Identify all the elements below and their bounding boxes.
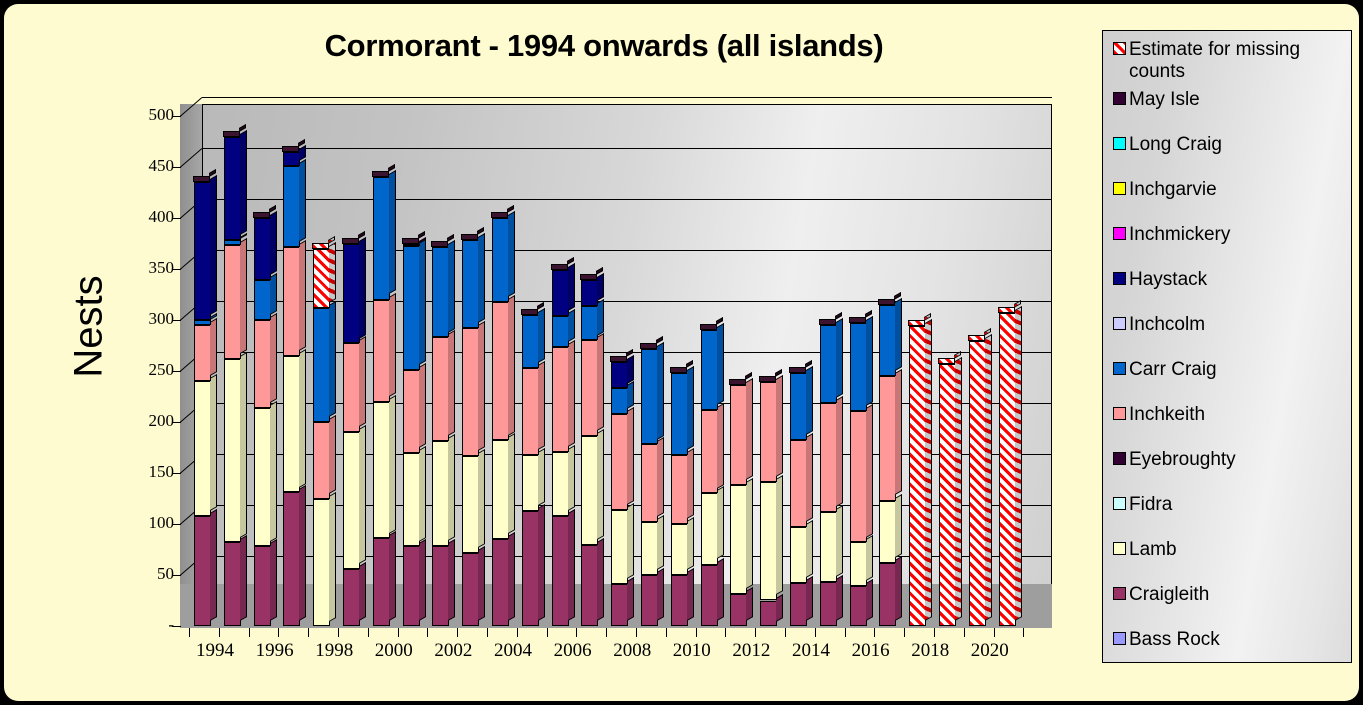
bar-segment-side xyxy=(419,446,426,542)
x-tick-label: 2010 xyxy=(662,640,722,662)
bar-top-face xyxy=(998,307,1015,313)
bar-segment-side xyxy=(687,568,694,621)
x-tick-mark xyxy=(308,628,309,637)
x-tick-mark xyxy=(487,628,488,637)
bar-2014[interactable] xyxy=(790,104,807,628)
bar-segment-carr-craig xyxy=(403,246,420,370)
legend-item-inchgarvie[interactable]: Inchgarvie xyxy=(1113,179,1217,201)
legend-label: Lamb xyxy=(1129,539,1177,561)
legend-item-eyebroughty[interactable]: Eyebroughty xyxy=(1113,449,1236,471)
legend-item-fidra[interactable]: Fidra xyxy=(1113,494,1172,516)
bar-segment-craigleith xyxy=(790,583,807,626)
bar-segment-inchkeith xyxy=(224,245,241,359)
bar-2018[interactable] xyxy=(909,104,926,628)
bar-segment-side xyxy=(329,301,336,417)
bar-segment-estimate-for-missing-counts xyxy=(313,249,330,308)
x-tick-label: 2008 xyxy=(602,640,662,662)
bar-segment-craigleith xyxy=(194,516,211,626)
y-tick-mark xyxy=(172,371,181,372)
bar-2021[interactable] xyxy=(999,104,1016,628)
y-tick-label: 300 xyxy=(114,309,174,329)
legend-item-carr-craig[interactable]: Carr Craig xyxy=(1113,359,1217,381)
bar-segment-inchkeith xyxy=(701,410,718,494)
bar-segment-side xyxy=(240,352,247,538)
y-tick-mark xyxy=(172,422,181,423)
bar-top-face xyxy=(431,241,448,247)
bar-segment-inchkeith xyxy=(552,347,569,452)
x-tick-mark xyxy=(427,628,428,637)
bar-segment-inchkeith xyxy=(492,302,509,441)
legend-item-may-isle[interactable]: May Isle xyxy=(1113,89,1200,111)
legend-item-craigleith[interactable]: Craigleith xyxy=(1113,584,1209,606)
bar-segment-side xyxy=(478,321,485,451)
legend-swatch-icon xyxy=(1113,497,1126,510)
legend-label: Bass Rock xyxy=(1129,629,1220,651)
bar-segment-side xyxy=(359,562,366,621)
bar-segment-side xyxy=(508,532,515,621)
legend-swatch-icon xyxy=(1113,452,1126,465)
bar-2002[interactable] xyxy=(432,104,449,628)
bar-2010[interactable] xyxy=(671,104,688,628)
legend-label: May Isle xyxy=(1129,89,1200,111)
bar-segment-carr-craig xyxy=(790,373,807,440)
bar-segment-inchmickery xyxy=(403,244,420,246)
bar-top-face xyxy=(521,309,538,315)
bar-segment-carr-craig xyxy=(552,316,569,347)
bar-top-face xyxy=(819,319,836,325)
bar-segment-side xyxy=(687,366,694,450)
bar-segment-lamb xyxy=(432,441,449,546)
bar-segment-inchkeith xyxy=(432,337,449,441)
bar-segment-craigleith xyxy=(760,601,777,627)
bar-segment-side xyxy=(389,395,396,534)
bar-segment-carr-craig xyxy=(224,240,241,244)
x-tick-mark xyxy=(1023,628,1024,637)
y-tick-label: 500 xyxy=(114,105,174,125)
bar-segment-side xyxy=(568,509,575,621)
y-tick-mark xyxy=(172,116,181,117)
bar-segment-craigleith xyxy=(820,582,837,626)
bar-segment-side xyxy=(627,407,634,505)
bar-top-face xyxy=(402,238,419,244)
legend-label: Inchgarvie xyxy=(1129,179,1217,201)
bar-top-face xyxy=(342,238,359,244)
bar-2006[interactable] xyxy=(552,104,569,628)
bar-segment-inchkeith xyxy=(760,382,777,482)
bar-segment-side xyxy=(836,396,843,507)
bar-segment-side xyxy=(270,539,277,621)
x-tick-mark xyxy=(725,628,726,637)
x-tick-mark xyxy=(219,628,220,637)
bar-2016[interactable] xyxy=(850,104,867,628)
bar-top-face xyxy=(729,379,746,385)
bar-segment-side xyxy=(359,425,366,564)
bar-2001[interactable] xyxy=(403,104,420,628)
y-tick-mark xyxy=(172,320,181,321)
bar-segment-lamb xyxy=(730,485,747,594)
bar-segment-side xyxy=(568,309,575,342)
bar-segment-side xyxy=(657,515,664,570)
bar-segment-carr-craig xyxy=(701,330,718,410)
bar-segment-side xyxy=(448,539,455,621)
bar-segment-side xyxy=(776,593,783,621)
bar-segment-side xyxy=(657,342,664,440)
bar-1999[interactable] xyxy=(343,104,360,628)
bar-segment-carr-craig xyxy=(254,280,271,320)
bar-2007[interactable] xyxy=(581,104,598,628)
bar-segment-side xyxy=(895,298,902,371)
bar-segment-side xyxy=(508,295,515,436)
y-tick-label: 50 xyxy=(114,564,174,584)
bar-segment-side xyxy=(508,211,515,297)
bar-segment-side xyxy=(925,319,932,621)
bar-segment-side xyxy=(746,478,753,589)
bar-segment-side xyxy=(806,576,813,621)
y-tick-label: - xyxy=(114,615,174,635)
bar-segment-craigleith xyxy=(552,516,569,626)
bar-top-face xyxy=(610,356,627,362)
bar-segment-side xyxy=(299,240,306,351)
bar-segment-lamb xyxy=(850,542,867,586)
bar-segment-carr-craig xyxy=(879,305,896,376)
bar-segment-haystack xyxy=(254,218,271,280)
bar-segment-side xyxy=(866,535,873,581)
bar-segment-side xyxy=(627,503,634,579)
legend-item-inchmickery[interactable]: Inchmickery xyxy=(1113,224,1230,246)
bar-2003[interactable] xyxy=(462,104,479,628)
bar-segment-side xyxy=(895,493,902,557)
x-tick-mark xyxy=(338,628,339,637)
bar-segment-side xyxy=(389,170,396,294)
bar-segment-carr-craig xyxy=(820,325,837,403)
y-tick-mark xyxy=(172,524,181,525)
x-tick-mark xyxy=(994,628,995,637)
bar-segment-side xyxy=(597,333,604,431)
bar-segment-side xyxy=(717,558,724,621)
bar-segment-side xyxy=(538,361,545,450)
x-tick-label: 2020 xyxy=(960,640,1020,662)
bar-segment-craigleith xyxy=(671,575,688,626)
bar-segment-side xyxy=(836,505,843,577)
y-tick-label: 150 xyxy=(114,462,174,482)
x-tick-mark xyxy=(755,628,756,637)
bar-top-face xyxy=(700,324,717,330)
legend-label: Inchcolm xyxy=(1129,314,1205,336)
bar-segment-side xyxy=(478,233,485,323)
bar-2013[interactable] xyxy=(760,104,777,628)
legend-swatch-icon xyxy=(1113,407,1126,420)
bar-segment-side xyxy=(836,575,843,621)
bar-segment-side xyxy=(568,445,575,511)
bar-segment-side xyxy=(568,263,575,311)
bar-top-face xyxy=(491,212,508,218)
bar-segment-lamb xyxy=(641,522,658,575)
bar-segment-side xyxy=(776,375,783,477)
bar-segment-carr-craig xyxy=(462,240,479,328)
y-tick-label: 450 xyxy=(114,156,174,176)
bar-2009[interactable] xyxy=(641,104,658,628)
legend-swatch-icon xyxy=(1113,272,1126,285)
bar-segment-side xyxy=(419,539,426,621)
chart-canvas: Cormorant - 1994 onwards (all islands) N… xyxy=(4,4,1359,701)
bar-1994[interactable] xyxy=(194,104,211,628)
bar-segment-inchkeith xyxy=(730,385,747,485)
bar-segment-craigleith xyxy=(730,594,747,626)
bar-top-face xyxy=(789,367,806,373)
bar-segment-lamb xyxy=(820,512,837,582)
bar-top-face xyxy=(551,264,568,270)
bar-segment-inchkeith xyxy=(850,411,867,543)
legend-swatch-icon xyxy=(1113,542,1126,555)
bar-1997[interactable] xyxy=(283,104,300,628)
bar-2005[interactable] xyxy=(522,104,539,628)
bar-2000[interactable] xyxy=(373,104,390,628)
bar-1996[interactable] xyxy=(254,104,271,628)
bar-2008[interactable] xyxy=(611,104,628,628)
bar-segment-side xyxy=(538,504,545,621)
bar-segment-haystack xyxy=(224,137,241,240)
bar-segment-side xyxy=(776,475,783,595)
bar-top-face xyxy=(223,131,240,137)
bar-segment-lamb xyxy=(879,501,896,563)
bar-segment-side xyxy=(389,531,396,621)
bar-2011[interactable] xyxy=(701,104,718,628)
bar-segment-side xyxy=(538,308,545,363)
bar-segment-inchkeith xyxy=(581,340,598,436)
legend-swatch-icon xyxy=(1113,92,1126,105)
x-tick-mark xyxy=(398,628,399,637)
bar-segment-lamb xyxy=(790,527,807,583)
bar-segment-side xyxy=(597,299,604,336)
bar-top-face xyxy=(461,234,478,240)
bar-segment-carr-craig xyxy=(373,177,390,299)
bar-segment-side xyxy=(985,334,992,621)
legend-swatch-icon xyxy=(1113,362,1126,375)
bar-segment-side xyxy=(597,429,604,540)
x-tick-label: 2006 xyxy=(543,640,603,662)
chart-title: Cormorant - 1994 onwards (all islands) xyxy=(154,28,1054,64)
bar-segment-side xyxy=(299,159,306,242)
x-tick-mark xyxy=(189,628,190,637)
legend-label: Craigleith xyxy=(1129,584,1209,606)
bar-segment-haystack xyxy=(194,182,211,320)
bar-segment-lamb xyxy=(313,499,330,627)
bar-segment-side xyxy=(359,236,366,338)
legend-item-inchcolm[interactable]: Inchcolm xyxy=(1113,314,1205,336)
x-tick-mark xyxy=(934,628,935,637)
bar-2004[interactable] xyxy=(492,104,509,628)
bar-segment-side xyxy=(955,357,962,621)
x-tick-mark xyxy=(368,628,369,637)
bar-segment-craigleith xyxy=(611,584,628,626)
bar-segment-side xyxy=(448,240,455,333)
bar-segment-side xyxy=(270,313,277,403)
bar-segment-inchkeith xyxy=(343,343,360,432)
bar-segment-haystack xyxy=(552,270,569,316)
x-tick-mark xyxy=(606,628,607,637)
gridline xyxy=(202,97,1052,98)
y-tick-mark xyxy=(172,626,181,627)
legend-item-inchkeith[interactable]: Inchkeith xyxy=(1113,404,1205,426)
bar-top-face xyxy=(312,243,329,249)
bar-segment-lamb xyxy=(522,455,539,511)
x-tick-mark xyxy=(517,628,518,637)
bar-segment-inchkeith xyxy=(522,368,539,455)
bar-segment-inchkeith xyxy=(611,414,628,510)
bar-segment-side xyxy=(687,448,694,519)
bar-segment-side xyxy=(419,238,426,364)
bar-segment-side xyxy=(270,401,277,542)
bar-segment-side xyxy=(657,437,664,517)
bar-segment-carr-craig xyxy=(850,323,867,411)
legend-item-estimate-for-missing-counts[interactable]: Estimate for missing counts xyxy=(1113,39,1300,83)
bar-segment-craigleith xyxy=(283,492,300,626)
bar-segment-craigleith xyxy=(254,546,271,626)
bar-top-face xyxy=(580,274,597,280)
bar-segment-craigleith xyxy=(224,542,241,626)
bar-segment-lamb xyxy=(254,408,271,547)
bar-segment-side xyxy=(866,404,873,538)
bar-segment-craigleith xyxy=(701,565,718,626)
x-tick-mark xyxy=(904,628,905,637)
bar-segment-side xyxy=(746,587,753,621)
bar-segment-side xyxy=(806,520,813,578)
bar-segment-craigleith xyxy=(581,545,598,626)
bar-2020[interactable] xyxy=(969,104,986,628)
bar-segment-side xyxy=(717,403,724,489)
bar-segment-carr-craig xyxy=(313,308,330,422)
x-tick-label: 1996 xyxy=(245,640,305,662)
x-tick-mark xyxy=(964,628,965,637)
bar-segment-lamb xyxy=(194,381,211,516)
legend-item-haystack[interactable]: Haystack xyxy=(1113,269,1207,291)
bar-2017[interactable] xyxy=(879,104,896,628)
bar-segment-inchkeith xyxy=(820,403,837,512)
y-tick-mark xyxy=(172,473,181,474)
bar-segment-side xyxy=(866,579,873,621)
legend-item-lamb[interactable]: Lamb xyxy=(1113,539,1177,561)
bar-segment-side xyxy=(270,273,277,315)
bar-segment-lamb xyxy=(403,453,420,547)
bar-segment-side xyxy=(240,535,247,621)
x-tick-mark xyxy=(457,628,458,637)
legend-swatch-icon xyxy=(1113,587,1126,600)
bar-segment-side xyxy=(240,237,247,353)
bar-segment-lamb xyxy=(581,436,598,545)
bar-2015[interactable] xyxy=(820,104,837,628)
bar-segment-side xyxy=(717,486,724,559)
bar-segment-side xyxy=(806,366,813,435)
bar-segment-inchkeith xyxy=(790,440,807,527)
x-tick-mark xyxy=(696,628,697,637)
y-tick-mark xyxy=(172,575,181,576)
bar-top-face xyxy=(670,367,687,373)
x-tick-mark xyxy=(547,628,548,637)
bar-segment-lamb xyxy=(552,452,569,516)
bar-segment-side xyxy=(508,433,515,534)
bar-segment-side xyxy=(895,369,902,495)
legend-item-long-craig[interactable]: Long Craig xyxy=(1113,134,1222,156)
bar-2019[interactable] xyxy=(939,104,956,628)
x-tick-mark xyxy=(874,628,875,637)
bar-segment-side xyxy=(210,175,217,315)
bar-top-face xyxy=(193,176,210,182)
bar-top-face xyxy=(253,212,270,218)
legend-label: Inchmickery xyxy=(1129,224,1230,246)
bar-segment-inchkeith xyxy=(403,370,420,453)
bar-top-face xyxy=(968,335,985,341)
bar-segment-side xyxy=(210,374,217,511)
bar-top-face xyxy=(878,299,895,305)
bar-segment-side xyxy=(657,568,664,621)
bar-1995[interactable] xyxy=(224,104,241,628)
bar-segment-lamb xyxy=(760,482,777,600)
bar-segment-side xyxy=(746,378,753,480)
y-tick-mark xyxy=(172,218,181,219)
x-axis: 1994199619982000200220042006200820102012… xyxy=(180,628,1060,668)
x-tick-mark xyxy=(666,628,667,637)
bar-segment-inchkeith xyxy=(462,328,479,456)
bar-top-face xyxy=(938,358,955,364)
x-tick-label: 2000 xyxy=(364,640,424,662)
bar-segment-side xyxy=(240,130,247,235)
y-tick-label: 400 xyxy=(114,207,174,227)
plot-area xyxy=(180,104,1052,628)
bar-segment-side xyxy=(597,273,604,301)
bar-segment-carr-craig xyxy=(432,247,449,338)
bar-segment-side xyxy=(866,316,873,406)
bar-segment-craigleith xyxy=(462,553,479,626)
bar-top-face xyxy=(759,376,776,382)
legend-label: Estimate for missing counts xyxy=(1129,39,1300,83)
bar-1998[interactable] xyxy=(313,104,330,628)
bar-segment-estimate-for-missing-counts xyxy=(909,326,926,626)
bar-segment-side xyxy=(627,355,634,384)
bar-segment-side xyxy=(448,434,455,541)
bar-segment-carr-craig xyxy=(611,388,628,414)
bar-segment-side xyxy=(627,577,634,621)
bar-segment-side xyxy=(627,381,634,409)
bar-2012[interactable] xyxy=(730,104,747,628)
x-tick-mark xyxy=(636,628,637,637)
bar-segment-side xyxy=(836,318,843,398)
bar-segment-lamb xyxy=(611,510,628,584)
bar-segment-lamb xyxy=(373,402,390,539)
bar-segment-carr-craig xyxy=(581,306,598,341)
legend-swatch-icon xyxy=(1113,182,1126,195)
bar-segment-side xyxy=(717,323,724,405)
x-tick-label: 2014 xyxy=(781,640,841,662)
bar-segment-craigleith xyxy=(522,511,539,626)
legend-label: Carr Craig xyxy=(1129,359,1217,381)
bar-segment-lamb xyxy=(492,440,509,539)
legend-label: Eyebroughty xyxy=(1129,449,1236,471)
y-tick-mark xyxy=(172,167,181,168)
y-tick-label: 100 xyxy=(114,513,174,533)
bar-segment-side xyxy=(210,318,217,376)
y-axis-label: Nests xyxy=(67,237,112,417)
legend-item-bass-rock[interactable]: Bass Rock xyxy=(1113,629,1220,651)
legend-swatch-icon xyxy=(1113,632,1126,645)
x-tick-mark xyxy=(278,628,279,637)
bar-segment-estimate-for-missing-counts xyxy=(969,341,986,626)
x-tick-label: 1998 xyxy=(304,640,364,662)
bar-segment-inchkeith xyxy=(313,422,330,499)
bar-top-face xyxy=(282,146,299,152)
bar-segment-carr-craig xyxy=(283,166,300,247)
x-tick-label: 1994 xyxy=(185,640,245,662)
bar-segment-craigleith xyxy=(492,539,509,626)
